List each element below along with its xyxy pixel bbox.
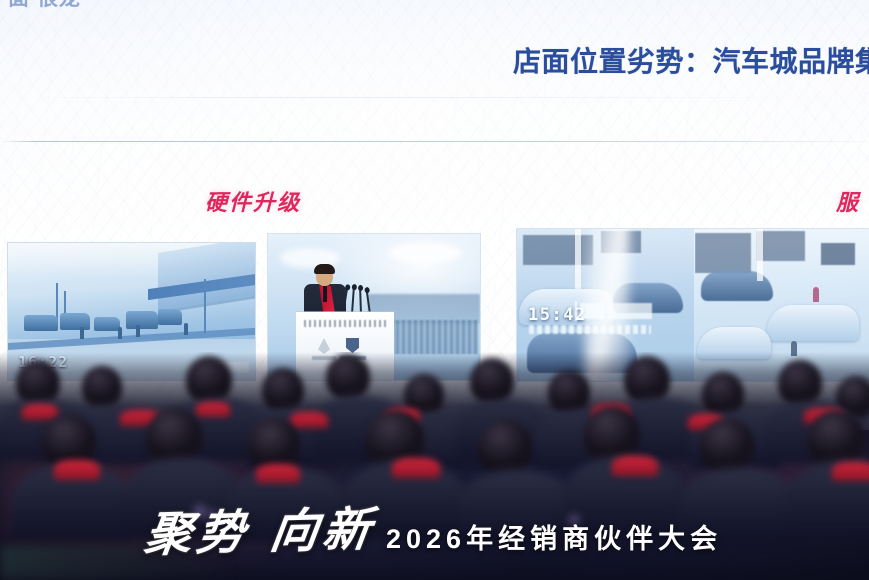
podium-lettering: [304, 320, 386, 327]
audience-head: [470, 358, 514, 404]
banner-calligraphy-slogan: 聚势 向新: [141, 490, 380, 565]
audience-red-scarf: [196, 402, 230, 417]
audience-head: [262, 368, 304, 412]
structural-column: [575, 229, 581, 289]
timestamp-divider: [575, 301, 577, 321]
audience-red-scarf: [256, 464, 300, 483]
audience-head: [548, 370, 590, 414]
person: [136, 325, 140, 337]
audience-head: [186, 356, 232, 404]
cloud: [388, 242, 462, 264]
ceiling-panel: [695, 233, 751, 273]
slide-caption-hardware-upgrade: 硬件升级: [205, 185, 301, 217]
ceiling-panel: [757, 231, 805, 261]
person: [184, 323, 188, 335]
parked-car: [126, 311, 158, 329]
microphone: [351, 288, 355, 314]
slide-topleft-cutoff-label: 面 很龙: [8, 0, 158, 12]
audience-head: [700, 418, 754, 474]
microphone: [359, 289, 362, 314]
audience-head: [326, 354, 370, 400]
timestamp-caption: [580, 303, 652, 319]
banner-event-subtitle: 2026年经销商伙伴大会: [386, 517, 722, 556]
event-banner: 聚势 向新 2026年经销商伙伴大会: [0, 484, 869, 580]
microphone: [366, 291, 371, 314]
timestamp-subcaption: [529, 325, 651, 334]
audience-head: [702, 372, 744, 416]
audience-head: [82, 366, 122, 408]
slide-topleft-cutoff-text: 面 很龙: [8, 0, 158, 12]
speaker-necktie: [323, 286, 327, 302]
audience-head: [624, 356, 670, 404]
ceiling-panel: [523, 235, 593, 265]
wall-display: [821, 243, 855, 265]
audience-red-scarf: [22, 404, 58, 420]
audience-red-scarf: [832, 462, 869, 481]
audience-head: [778, 360, 822, 406]
person: [80, 327, 84, 339]
slide-headline: 店面位置劣势：汽车城品牌集中: [513, 41, 869, 83]
showroom-car: [767, 305, 859, 341]
structural-column: [757, 229, 763, 281]
visitor: [813, 287, 819, 302]
light-pole: [204, 279, 206, 333]
parked-car: [60, 313, 90, 330]
audience-red-scarf: [54, 460, 100, 480]
speaker-hair: [314, 264, 335, 274]
audience-head: [478, 420, 532, 476]
audience-red-scarf: [612, 456, 658, 476]
audience-red-scarf: [392, 458, 440, 478]
photo-timestamp-interior: 15:42: [528, 305, 587, 325]
slide-caption-right-cutoff: 服: [836, 185, 869, 217]
audience-red-scarf: [290, 412, 328, 428]
screen-seam-line: [0, 141, 869, 142]
parked-car: [24, 315, 58, 331]
parked-car: [158, 309, 182, 325]
screenshot-root: 面 很龙 店面位置劣势：汽车城品牌集中 硬件升级 服 16:: [0, 0, 869, 580]
parked-car: [94, 317, 120, 331]
screen-seam-upper: [0, 97, 869, 98]
slide-headline-text: 店面位置劣势：汽车城品牌集中: [513, 46, 869, 77]
person: [118, 327, 122, 339]
